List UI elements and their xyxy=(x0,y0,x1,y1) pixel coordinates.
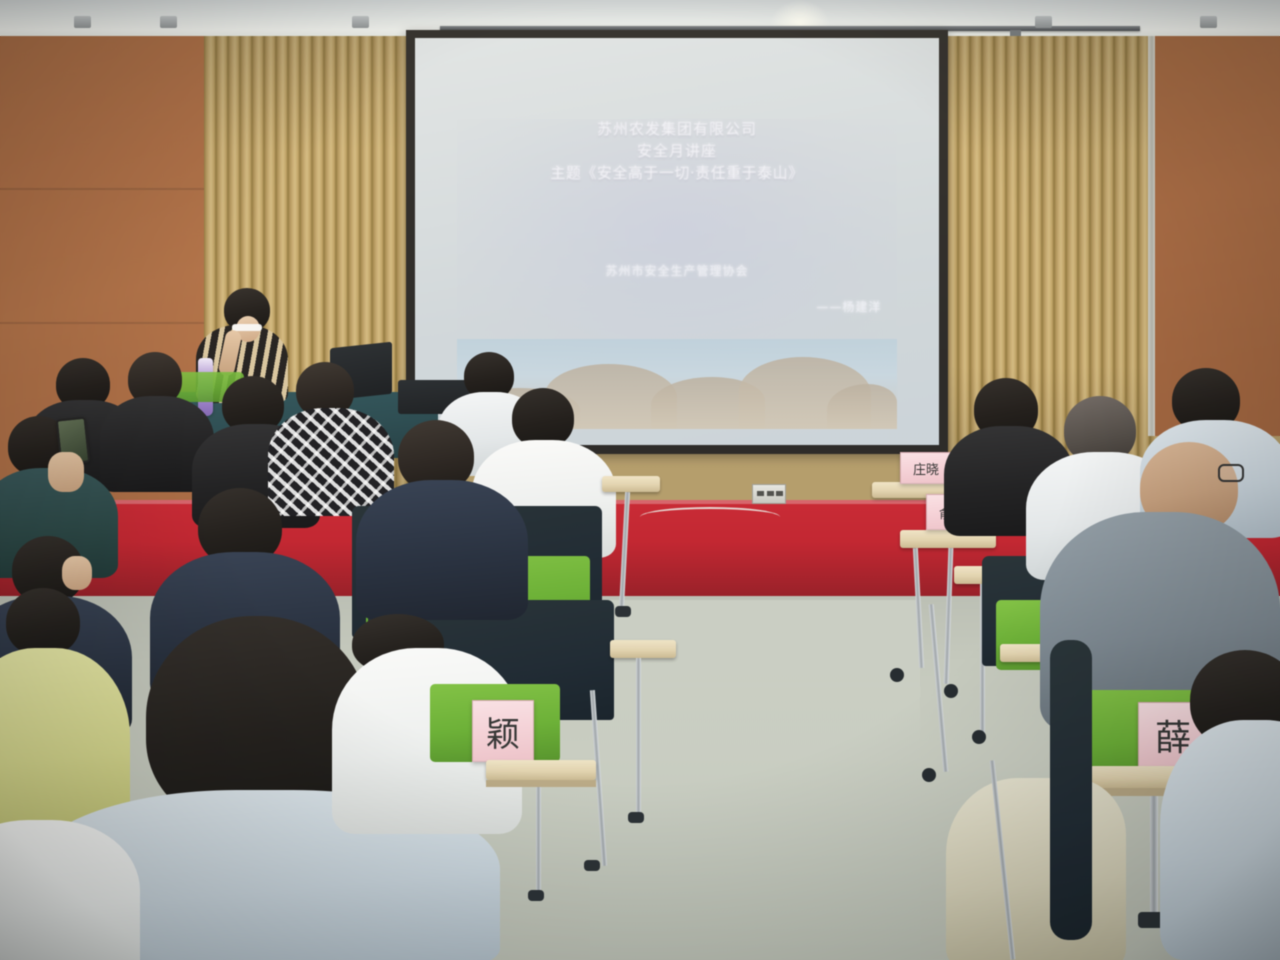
chair-caster xyxy=(972,730,986,744)
chair-leg xyxy=(536,787,541,895)
slide-title-line-1: 苏州农发集团有限公司 xyxy=(415,119,939,141)
chair-caster xyxy=(922,768,936,782)
ceiling-bracket xyxy=(352,16,369,28)
chair-pedestal xyxy=(1150,796,1158,916)
slide-title-line-3: 主题《安全高于一切·责任重于泰山》 xyxy=(415,163,939,185)
tablet-arm xyxy=(486,760,596,780)
presenter-face-blur xyxy=(232,324,262,331)
eyeglasses xyxy=(1218,464,1244,482)
ceiling-bracket xyxy=(74,16,91,28)
chair-leg xyxy=(636,658,641,818)
namecard-text: 庄晓 xyxy=(913,459,939,478)
chair-foot xyxy=(628,812,644,823)
chair-foot xyxy=(528,890,544,901)
namecard-text: 颖 xyxy=(486,707,520,756)
tablet-arm xyxy=(610,640,676,658)
wall-power-outlet xyxy=(752,484,786,504)
torso xyxy=(356,480,528,620)
face-profile xyxy=(62,556,92,590)
chair-foot xyxy=(615,606,631,617)
namecard-front-left: 颖 xyxy=(472,700,534,762)
ceiling-bracket xyxy=(1200,16,1217,28)
slide-title-line-2: 安全月讲座 xyxy=(415,141,939,163)
head xyxy=(6,588,80,656)
chair-foot xyxy=(584,860,600,871)
slide-author: ——杨建洋 xyxy=(816,298,881,315)
chair-back-post xyxy=(1050,640,1092,940)
tablet-arm xyxy=(602,476,660,492)
panel-seam xyxy=(0,322,204,324)
chair-caster xyxy=(944,684,958,698)
lecture-hall-photo: 苏州农发集团有限公司 安全月讲座 主题《安全高于一切·责任重于泰山》 苏州市安全… xyxy=(0,0,1280,960)
torso xyxy=(946,778,1126,960)
slide-title-block: 苏州农发集团有限公司 安全月讲座 主题《安全高于一切·责任重于泰山》 xyxy=(415,119,939,184)
hand xyxy=(48,452,84,492)
tablet-arm-edge xyxy=(486,780,596,787)
ceiling-bracket xyxy=(1035,16,1052,28)
slide-organization: 苏州市安全生产管理协会 xyxy=(415,262,939,279)
ceiling-bracket xyxy=(160,16,177,28)
chair-caster xyxy=(890,668,904,682)
head xyxy=(512,388,574,448)
